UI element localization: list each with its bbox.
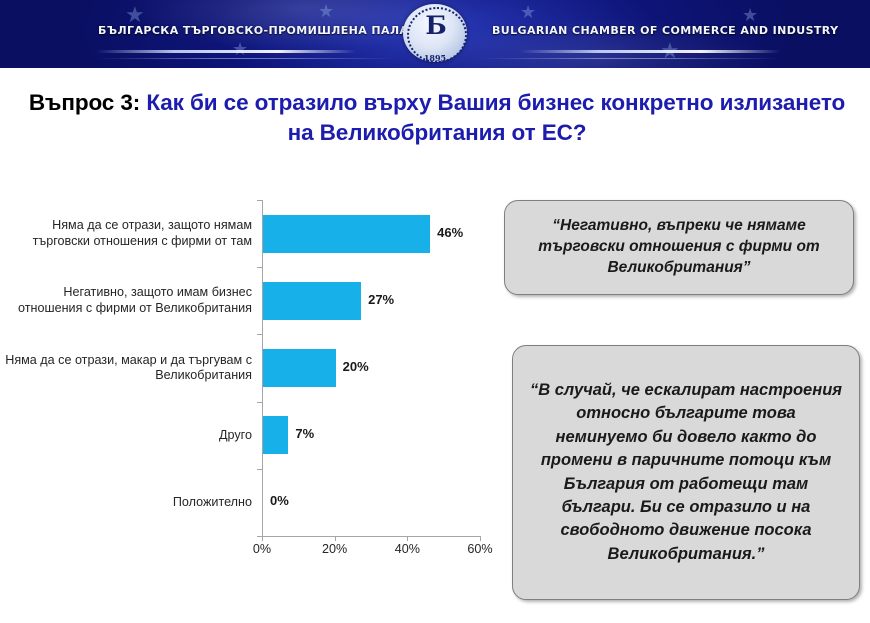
chamber-name-bg: БЪЛГАРСКА ТЪРГОВСКО-ПРОМИШЛЕНА ПАЛАТА bbox=[98, 24, 425, 37]
star-icon: ★ bbox=[520, 3, 536, 21]
x-axis-tick bbox=[335, 536, 336, 541]
chart-category-label: Друго bbox=[4, 428, 262, 443]
x-axis-tick bbox=[262, 536, 263, 541]
star-icon: ★ bbox=[232, 40, 248, 58]
y-axis-tick bbox=[257, 402, 262, 403]
chart-category-labels: Няма да се отрази, защото нямам търговск… bbox=[14, 196, 262, 536]
header-banner: ★ ★ ★ ★ ★ ★ БЪЛГАРСКА ТЪРГОВСКО-ПРОМИШЛЕ… bbox=[0, 0, 870, 68]
chart-bar-value: 0% bbox=[270, 493, 289, 508]
x-axis-tick-label: 20% bbox=[322, 542, 347, 556]
question-number: Въпрос 3: bbox=[29, 90, 140, 115]
chart-bar bbox=[263, 215, 430, 253]
chart-category-label: Няма да се отрази, макар и да търгувам с… bbox=[4, 353, 262, 384]
star-icon: ★ bbox=[318, 2, 334, 20]
question-text: Как би се отразило върху Вашия бизнес ко… bbox=[146, 90, 845, 145]
banner-rule-left bbox=[96, 50, 356, 53]
page-title: Въпрос 3: Как би се отразило върху Вашия… bbox=[22, 88, 852, 147]
quote-callout: “В случай, че ескалират настроения относ… bbox=[512, 345, 860, 600]
logo-monogram: Б bbox=[400, 13, 470, 38]
chart-bar bbox=[263, 282, 361, 320]
x-axis-tick-label: 60% bbox=[467, 542, 492, 556]
quote-text: “В случай, че ескалират настроения относ… bbox=[529, 379, 843, 566]
star-icon: ★ bbox=[742, 6, 758, 24]
x-axis-tick bbox=[480, 536, 481, 541]
y-axis-tick bbox=[257, 267, 262, 268]
logo-year: 1895 bbox=[400, 53, 470, 63]
bcci-logo-icon: Б 1895 bbox=[400, 2, 470, 66]
quote-text: “Негативно, въпреки че нямаме търговски … bbox=[521, 216, 837, 278]
chart-category-label: Положително bbox=[4, 495, 262, 510]
x-axis-line bbox=[262, 536, 480, 537]
chart-bar bbox=[263, 349, 336, 387]
y-axis-tick bbox=[257, 469, 262, 470]
star-icon: ★ bbox=[125, 4, 145, 26]
chart-bar-value: 7% bbox=[295, 426, 314, 441]
chart-bar-value: 46% bbox=[437, 225, 463, 240]
banner-rule-right bbox=[520, 50, 780, 53]
chart-bar bbox=[263, 416, 288, 454]
chart-category-label: Негативно, защото имам бизнес отношения … bbox=[4, 285, 262, 316]
quote-callout: “Негативно, въпреки че нямаме търговски … bbox=[504, 200, 854, 295]
x-axis-tick-label: 40% bbox=[395, 542, 420, 556]
chart-bar-value: 20% bbox=[343, 359, 369, 374]
chart-plot-area: 0%20%40%60%46%27%20%7%0% bbox=[262, 196, 500, 568]
banner-rule-thin-right bbox=[480, 58, 780, 59]
y-axis-tick bbox=[257, 334, 262, 335]
x-axis-tick-label: 0% bbox=[253, 542, 271, 556]
x-axis-tick bbox=[407, 536, 408, 541]
chart-bar-value: 27% bbox=[368, 292, 394, 307]
banner-rule-thin-left bbox=[96, 58, 396, 59]
slide: ★ ★ ★ ★ ★ ★ БЪЛГАРСКА ТЪРГОВСКО-ПРОМИШЛЕ… bbox=[0, 0, 870, 623]
chart-category-label: Няма да се отрази, защото нямам търговск… bbox=[4, 218, 262, 249]
chamber-name-en: BULGARIAN CHAMBER OF COMMERCE AND INDUST… bbox=[492, 24, 838, 37]
y-axis-tick bbox=[257, 200, 262, 201]
survey-bar-chart: Няма да се отрази, защото нямам търговск… bbox=[14, 196, 500, 568]
